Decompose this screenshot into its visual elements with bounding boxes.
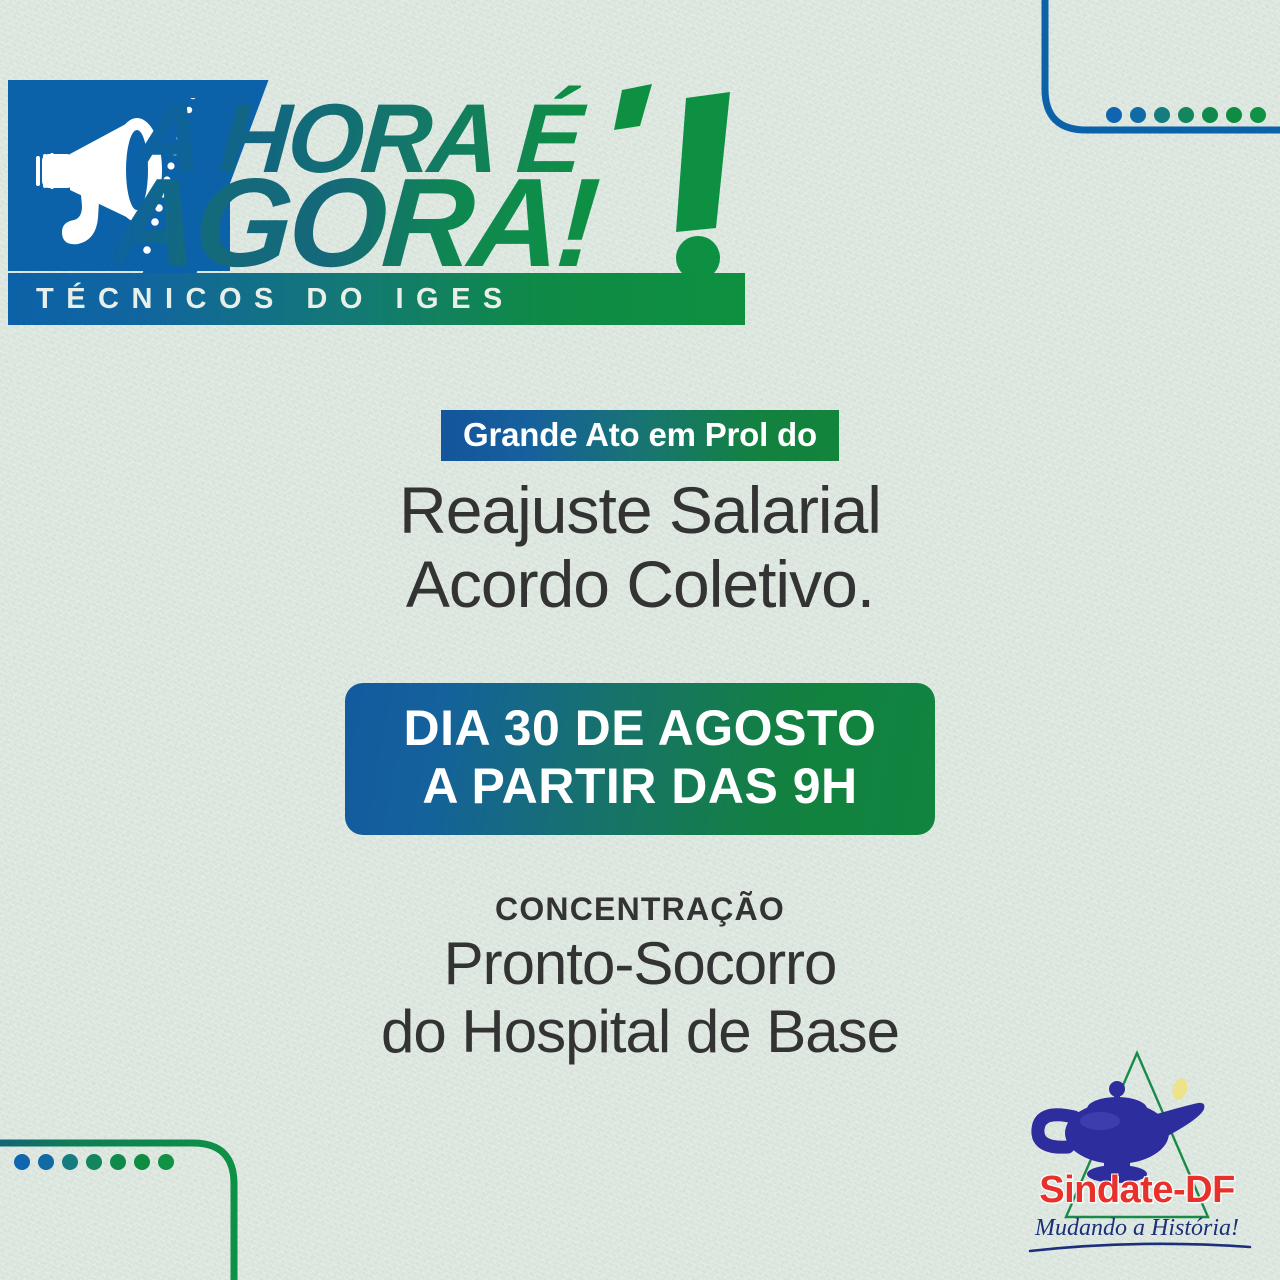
campaign-logo-wordmark: A HORA É AGORA! [8, 80, 753, 276]
headline: Reajuste Salarial Acordo Coletivo. [0, 473, 1280, 621]
date-line: DIA 30 DE AGOSTO [404, 700, 877, 756]
campaign-subtitle-text: TÉCNICOS DO IGES [8, 273, 745, 325]
dot-4 [86, 1154, 102, 1170]
dot-3 [62, 1154, 78, 1170]
headline-line-1: Reajuste Salarial [399, 473, 881, 547]
poster-content: Grande Ato em Prol do Reajuste Salarial … [0, 410, 1280, 1066]
poster-canvas: A HORA É AGORA! TÉCNICOS DO IGES Grande … [0, 0, 1280, 1280]
dot-3 [1154, 107, 1170, 123]
dot-5 [110, 1154, 126, 1170]
campaign-subtitle-bar: TÉCNICOS DO IGES [8, 273, 745, 325]
dot-6 [1226, 107, 1242, 123]
dot-7 [1250, 107, 1266, 123]
union-name: Sindate-DF [1012, 1169, 1262, 1212]
dot-7 [158, 1154, 174, 1170]
corner-decor-bottom-left [0, 1126, 294, 1280]
dot-5 [1202, 107, 1218, 123]
svg-text:AGORA!: AGORA! [100, 152, 602, 276]
headline-line-2: Acordo Coletivo. [0, 547, 1280, 621]
dot-row-top-right [1106, 107, 1266, 123]
dot-6 [134, 1154, 150, 1170]
meeting-point-label: CONCENTRAÇÃO [0, 891, 1280, 928]
time-line: A PARTIR DAS 9H [345, 757, 935, 815]
union-tagline: Mudando a História! [1012, 1215, 1262, 1242]
dot-1 [1106, 107, 1122, 123]
dot-row-bottom-left [14, 1154, 174, 1170]
venue-line-1: Pronto-Socorro [444, 930, 837, 997]
dot-4 [1178, 107, 1194, 123]
venue: Pronto-Socorro do Hospital de Base [0, 930, 1280, 1066]
dot-2 [38, 1154, 54, 1170]
date-time-box: DIA 30 DE AGOSTO A PARTIR DAS 9H [345, 683, 935, 835]
union-logo: Sindate-DF Mudando a História! [1012, 1047, 1262, 1262]
event-ribbon: Grande Ato em Prol do [441, 410, 839, 461]
dot-2 [1130, 107, 1146, 123]
dot-1 [14, 1154, 30, 1170]
